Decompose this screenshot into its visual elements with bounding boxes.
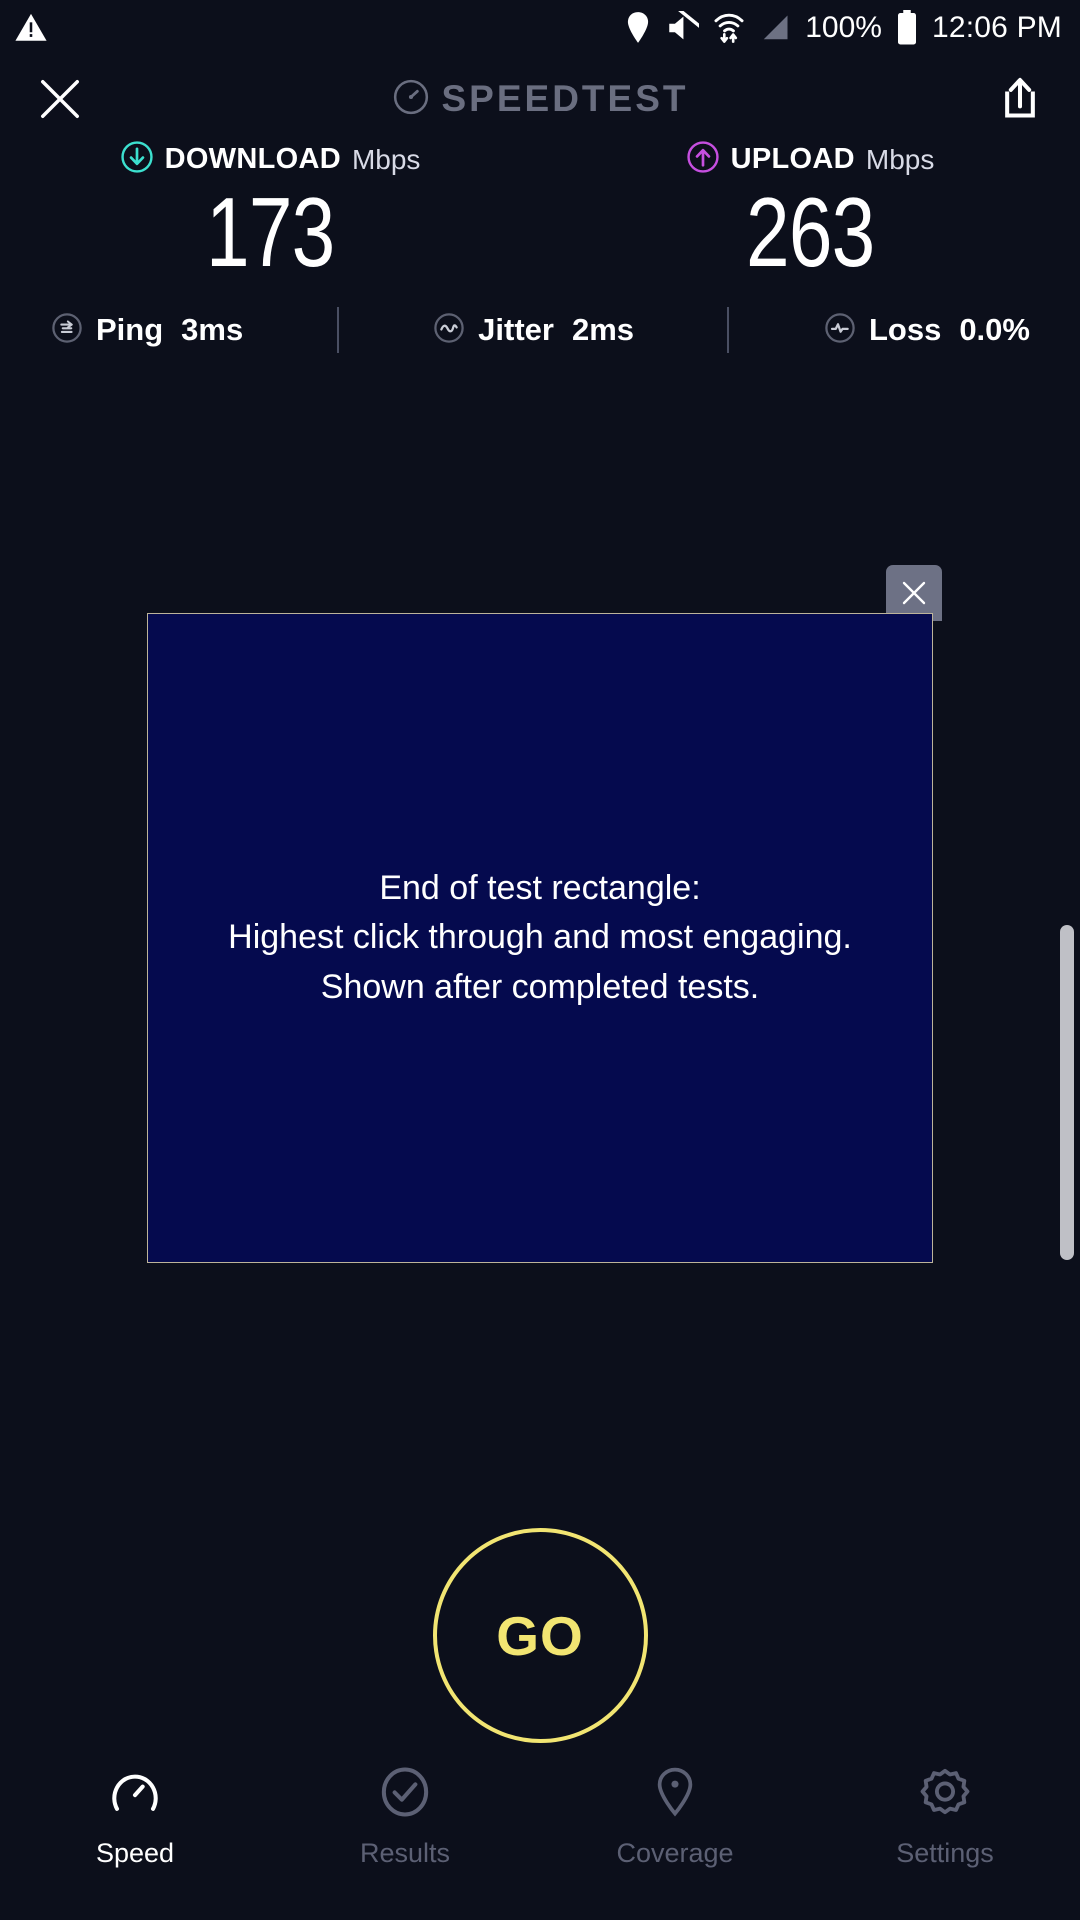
status-bar: 100% 12:06 PM bbox=[0, 0, 1080, 56]
status-bar-clock: 12:06 PM bbox=[932, 11, 1062, 45]
loss-label: Loss bbox=[869, 312, 941, 348]
jitter-icon bbox=[432, 311, 466, 350]
brand-lockup: SPEEDTEST bbox=[0, 56, 1080, 142]
nav-label-results: Results bbox=[360, 1838, 450, 1869]
warning-triangle-icon bbox=[14, 11, 48, 45]
upload-label: UPLOAD bbox=[731, 143, 855, 176]
go-button-container: GO bbox=[0, 1528, 1080, 1743]
speedtest-app-screen: 100% 12:06 PM SP bbox=[0, 0, 1080, 1920]
download-header: DOWNLOAD Mbps bbox=[120, 140, 421, 179]
map-pin-icon bbox=[648, 1765, 702, 1824]
app-header: SPEEDTEST bbox=[0, 56, 1080, 142]
results-summary: DOWNLOAD Mbps 173 UPLOAD Mbps 263 bbox=[0, 140, 1080, 281]
speedometer-icon bbox=[392, 78, 430, 121]
arrow-down-circle-icon bbox=[120, 140, 154, 179]
ad-line-3: Shown after completed tests. bbox=[228, 963, 852, 1012]
battery-full-icon bbox=[896, 10, 918, 46]
nav-label-speed: Speed bbox=[96, 1838, 174, 1869]
ping-value: 3ms bbox=[181, 312, 243, 348]
ad-creative[interactable]: End of test rectangle: Highest click thr… bbox=[147, 613, 933, 1263]
download-value: 173 bbox=[206, 183, 334, 281]
battery-percent-label: 100% bbox=[805, 11, 882, 45]
download-upload-row: DOWNLOAD Mbps 173 UPLOAD Mbps 263 bbox=[0, 140, 1080, 281]
jitter-label: Jitter bbox=[478, 312, 554, 348]
nav-item-settings[interactable]: Settings bbox=[810, 1765, 1080, 1869]
close-button[interactable] bbox=[28, 67, 92, 131]
speedometer-icon bbox=[108, 1765, 162, 1824]
loss-stat: Loss 0.0% bbox=[823, 311, 1030, 350]
ad-line-1: End of test rectangle: bbox=[228, 864, 852, 913]
loss-icon bbox=[823, 311, 857, 350]
stats-divider-2 bbox=[727, 307, 729, 353]
wifi-transfer-icon bbox=[713, 11, 745, 45]
close-icon bbox=[37, 76, 83, 122]
upload-value: 263 bbox=[746, 183, 874, 281]
ping-label: Ping bbox=[96, 312, 163, 348]
share-button[interactable] bbox=[988, 67, 1052, 131]
cell-signal-icon bbox=[759, 13, 791, 43]
nav-item-results[interactable]: Results bbox=[270, 1765, 540, 1869]
gear-icon bbox=[918, 1765, 972, 1824]
share-icon bbox=[998, 75, 1042, 123]
bottom-navigation: Speed Results Coverage bbox=[0, 1755, 1080, 1920]
stats-divider-1 bbox=[337, 307, 339, 353]
download-metric: DOWNLOAD Mbps 173 bbox=[0, 140, 540, 281]
go-button-label: GO bbox=[496, 1604, 584, 1668]
upload-unit: Mbps bbox=[866, 144, 934, 176]
page-scrollbar[interactable] bbox=[1060, 925, 1074, 1260]
jitter-stat: Jitter 2ms bbox=[432, 311, 634, 350]
ping-icon bbox=[50, 311, 84, 350]
upload-metric: UPLOAD Mbps 263 bbox=[540, 140, 1080, 281]
nav-label-coverage: Coverage bbox=[616, 1838, 733, 1869]
download-label: DOWNLOAD bbox=[165, 143, 341, 176]
jitter-value: 2ms bbox=[572, 312, 634, 348]
loss-value: 0.0% bbox=[959, 312, 1030, 348]
ad-close-icon bbox=[899, 578, 929, 608]
ping-stat: Ping 3ms bbox=[50, 311, 243, 350]
download-unit: Mbps bbox=[352, 144, 420, 176]
brand-title: SPEEDTEST bbox=[442, 78, 689, 120]
ad-text-block: End of test rectangle: Highest click thr… bbox=[228, 864, 852, 1012]
connection-stats-row: Ping 3ms Jitter 2ms Loss 0.0 bbox=[0, 300, 1080, 360]
status-bar-left bbox=[14, 11, 48, 45]
check-circle-icon bbox=[378, 1765, 432, 1824]
status-bar-right: 100% 12:06 PM bbox=[625, 10, 1062, 46]
nav-label-settings: Settings bbox=[896, 1838, 994, 1869]
ad-line-2: Highest click through and most engaging. bbox=[228, 913, 852, 962]
nav-item-speed[interactable]: Speed bbox=[0, 1765, 270, 1869]
upload-header: UPLOAD Mbps bbox=[686, 140, 935, 179]
go-button[interactable]: GO bbox=[433, 1528, 648, 1743]
nav-item-coverage[interactable]: Coverage bbox=[540, 1765, 810, 1869]
location-pin-icon bbox=[625, 11, 651, 45]
arrow-up-circle-icon bbox=[686, 140, 720, 179]
volume-mute-icon bbox=[665, 11, 699, 45]
